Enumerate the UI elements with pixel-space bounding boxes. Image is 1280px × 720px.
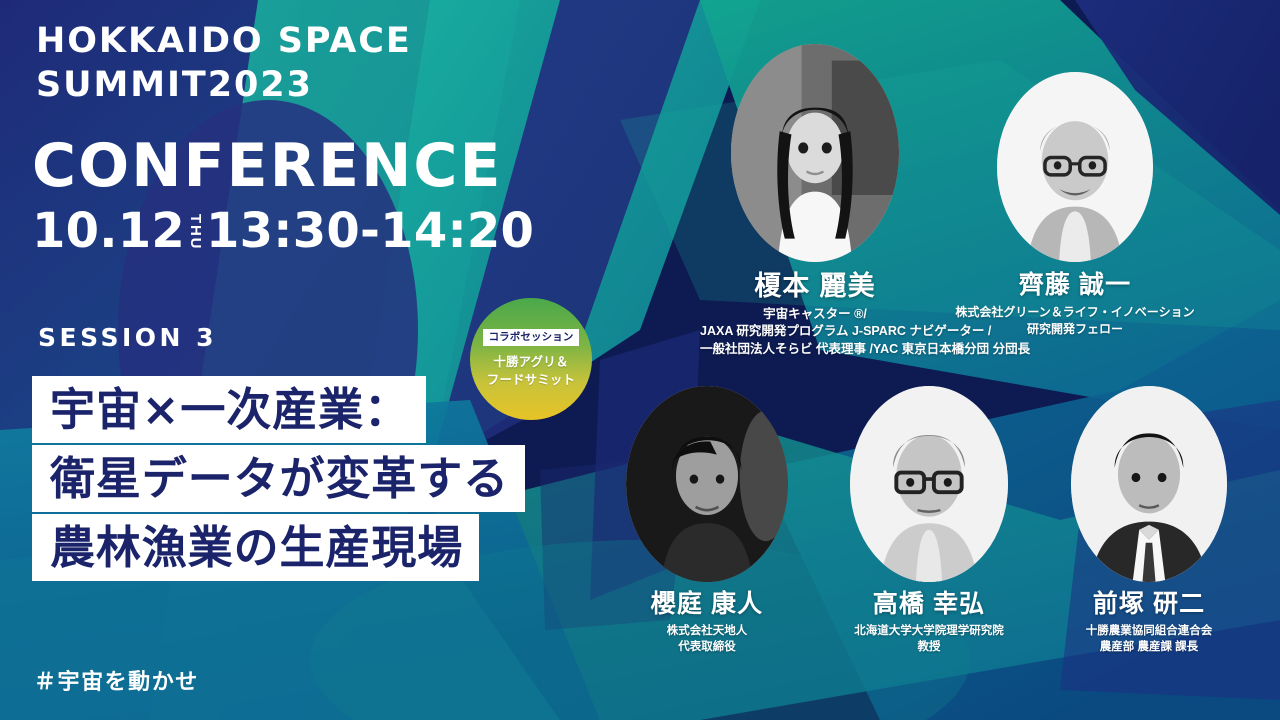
portrait-icon bbox=[997, 72, 1153, 262]
portrait-icon bbox=[731, 44, 899, 262]
conference-day-of-week: THU bbox=[188, 214, 203, 250]
session-title: 宇宙×一次産業： 衛星データが変革する 農林漁業の生産現場 bbox=[32, 376, 525, 583]
session-label: SESSION 3 bbox=[38, 323, 217, 352]
speaker-card: 榎本 麗美 宇宙キャスター ®/ JAXA 研究開発プログラム J-SPARC … bbox=[700, 44, 930, 359]
speaker-name: 前塚 研二 bbox=[1040, 591, 1258, 619]
portrait-icon bbox=[850, 386, 1008, 582]
speaker-role-line: 一般社団法人そらビ 代表理事 /YAC 東京日本橋分団 分団長 bbox=[700, 341, 930, 359]
speaker-role-line: 農産部 農産課 課長 bbox=[1040, 639, 1258, 655]
speaker-photo bbox=[626, 386, 788, 582]
conference-block: CONFERENCE 10.12 THU 13:30-14:20 bbox=[32, 136, 534, 255]
event-logo: HOKKAIDO SPACE SUMMIT2023 bbox=[36, 22, 412, 105]
speaker-card: 前塚 研二 十勝農業協同組合連合会 農産部 農産課 課長 bbox=[1040, 386, 1258, 655]
conference-date: 10.12 bbox=[32, 207, 185, 255]
portrait-icon bbox=[626, 386, 788, 582]
conference-slide: HOKKAIDO SPACE SUMMIT2023 CONFERENCE 10.… bbox=[0, 0, 1280, 720]
speaker-name: 櫻庭 康人 bbox=[598, 591, 816, 619]
speaker-name: 齊藤 誠一 bbox=[955, 272, 1195, 300]
speaker-card: 櫻庭 康人 株式会社天地人 代表取締役 bbox=[598, 386, 816, 655]
session-title-line1: 宇宙×一次産業： bbox=[32, 376, 426, 443]
event-logo-line2: SUMMIT2023 bbox=[36, 66, 412, 105]
speaker-role-line: 代表取締役 bbox=[598, 639, 816, 655]
speaker-role: 北海道大学大学院理学研究院 教授 bbox=[820, 623, 1038, 656]
speaker-role: 株式会社天地人 代表取締役 bbox=[598, 623, 816, 656]
speaker-photo bbox=[1071, 386, 1227, 582]
session-title-line3: 農林漁業の生産現場 bbox=[32, 514, 479, 581]
speaker-role-line: 北海道大学大学院理学研究院 bbox=[820, 623, 1038, 639]
portrait-icon bbox=[1071, 386, 1227, 582]
speaker-photo bbox=[850, 386, 1008, 582]
conference-time: 13:30-14:20 bbox=[206, 207, 534, 255]
collab-badge-chip: コラボセッション bbox=[483, 329, 580, 346]
speaker-role: 宇宙キャスター ®/ JAXA 研究開発プログラム J-SPARC ナビゲーター… bbox=[700, 306, 930, 359]
session-title-line2: 衛星データが変革する bbox=[32, 445, 525, 512]
speaker-photo bbox=[731, 44, 899, 262]
speaker-role-line: 宇宙キャスター ®/ bbox=[700, 306, 930, 324]
event-logo-line1: HOKKAIDO SPACE bbox=[36, 22, 412, 61]
conference-datetime: 10.12 THU 13:30-14:20 bbox=[32, 207, 534, 255]
speaker-photo bbox=[997, 72, 1153, 262]
speaker-grid: 榎本 麗美 宇宙キャスター ®/ JAXA 研究開発プログラム J-SPARC … bbox=[0, 0, 1280, 720]
speaker-role-line: 株式会社グリーン＆ライフ・イノベーション bbox=[955, 304, 1195, 321]
speaker-name: 高橋 幸弘 bbox=[820, 591, 1038, 619]
conference-label: CONFERENCE bbox=[32, 136, 534, 196]
speaker-role-line: 十勝農業協同組合連合会 bbox=[1040, 623, 1258, 639]
speaker-role: 株式会社グリーン＆ライフ・イノベーション 研究開発フェロー bbox=[955, 304, 1195, 338]
speaker-card: 齊藤 誠一 株式会社グリーン＆ライフ・イノベーション 研究開発フェロー bbox=[955, 72, 1195, 338]
speaker-name: 榎本 麗美 bbox=[700, 272, 930, 302]
speaker-role-line: 研究開発フェロー bbox=[955, 321, 1195, 338]
speaker-role-line: JAXA 研究開発プログラム J-SPARC ナビゲーター / bbox=[700, 323, 930, 341]
speaker-role-line: 教授 bbox=[820, 639, 1038, 655]
speaker-role: 十勝農業協同組合連合会 農産部 農産課 課長 bbox=[1040, 623, 1258, 656]
event-hashtag: ＃宇宙を動かせ bbox=[34, 664, 199, 696]
speaker-card: 高橋 幸弘 北海道大学大学院理学研究院 教授 bbox=[820, 386, 1038, 655]
collab-badge-line1: 十勝アグリ＆ bbox=[487, 353, 575, 371]
speaker-role-line: 株式会社天地人 bbox=[598, 623, 816, 639]
